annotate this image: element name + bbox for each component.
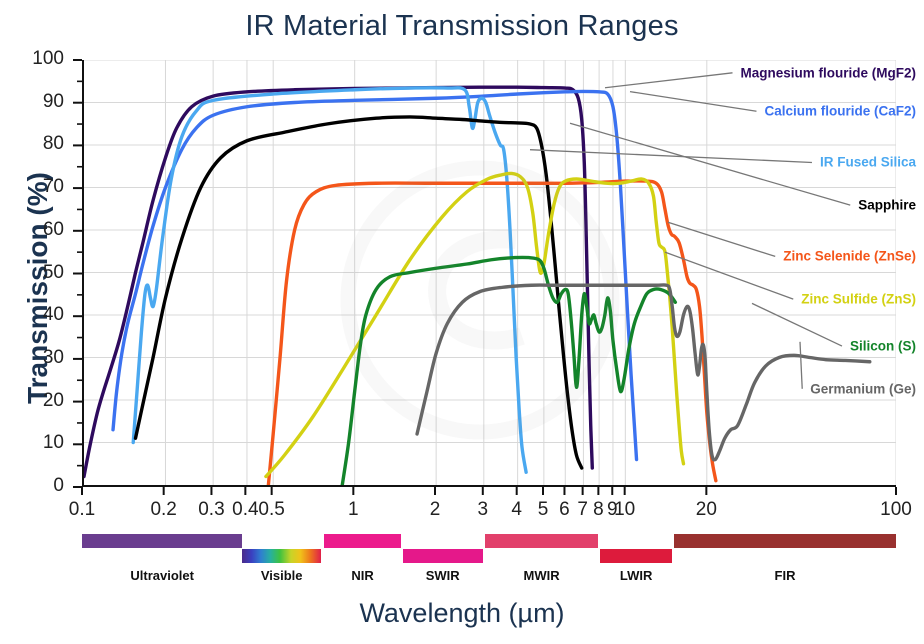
series-7 [417, 285, 870, 460]
spectrum-band-visible [242, 549, 321, 563]
legend-label-5: Zinc Sulfide (ZnS) [801, 292, 916, 307]
plot-svg [84, 60, 896, 485]
legend-label-3: Sapphire [858, 198, 916, 213]
y-tick-label: 70 [12, 176, 64, 198]
legend-label-4: Zinc Selenide (ZnSe) [783, 249, 916, 264]
chart-container: IR Material Transmission Ranges Transmis… [0, 0, 924, 644]
spectrum-band-nir [324, 534, 401, 548]
y-tick-label: 60 [12, 219, 64, 241]
x-tick-label: 3 [477, 499, 488, 521]
spectrum-band-mwir [485, 534, 599, 548]
x-tick-label: 20 [696, 499, 717, 521]
y-tick-label: 0 [12, 475, 64, 497]
spectrum-band-label-fir: FIR [775, 568, 796, 583]
spectrum-band-label-ultraviolet: Ultraviolet [130, 568, 194, 583]
series-1 [113, 91, 637, 459]
x-tick-label: 4 [511, 499, 522, 521]
y-tick-label: 50 [12, 262, 64, 284]
plot-area [82, 60, 896, 487]
legend-label-7: Germanium (Ge) [810, 381, 916, 396]
x-axis-label: Wavelength (µm) [0, 598, 924, 629]
y-tick-label: 30 [12, 347, 64, 369]
spectrum-band-ultraviolet [82, 534, 242, 548]
x-tick-label: 6 [559, 499, 570, 521]
y-tick-label: 40 [12, 304, 64, 326]
series-4 [268, 181, 715, 485]
x-tick-label: 100 [880, 499, 912, 521]
y-tick-label: 80 [12, 133, 64, 155]
x-tick-label: 8 [593, 499, 604, 521]
legend-label-0: Magnesium flouride (MgF2) [741, 65, 917, 80]
x-tick-label: 0.4 [232, 499, 258, 521]
spectrum-band-label-visible: Visible [261, 568, 303, 583]
spectrum-band-lwir [600, 549, 673, 563]
spectrum-band-label-mwir: MWIR [523, 568, 559, 583]
legend-label-6: Silicon (S) [850, 339, 916, 354]
x-tick-label: 7 [577, 499, 588, 521]
x-tick-label: 5 [538, 499, 549, 521]
spectrum-band-fir [674, 534, 896, 548]
chart-title: IR Material Transmission Ranges [0, 10, 924, 43]
series-0 [84, 87, 592, 476]
series-3 [136, 117, 582, 468]
spectrum-band-label-swir: SWIR [426, 568, 460, 583]
x-tick-label: 2 [430, 499, 441, 521]
y-tick-label: 100 [12, 48, 64, 70]
y-tick-label: 20 [12, 390, 64, 412]
x-tick-label: 0.1 [69, 499, 95, 521]
spectrum-band-swir [403, 549, 483, 563]
x-tick-label: 0.5 [258, 499, 284, 521]
x-tick-label: 0.2 [150, 499, 176, 521]
spectrum-band-label-lwir: LWIR [620, 568, 653, 583]
x-tick-label: 0.3 [198, 499, 224, 521]
y-tick-label: 90 [12, 91, 64, 113]
legend-label-1: Calcium flouride (CaF2) [764, 104, 916, 119]
spectrum-band-label-nir: NIR [351, 568, 373, 583]
y-tick-label: 10 [12, 432, 64, 454]
x-tick-label: 1 [348, 499, 359, 521]
x-tick-label: 10 [614, 499, 635, 521]
series-2 [133, 88, 526, 472]
legend-label-2: IR Fused Silica [820, 155, 916, 170]
